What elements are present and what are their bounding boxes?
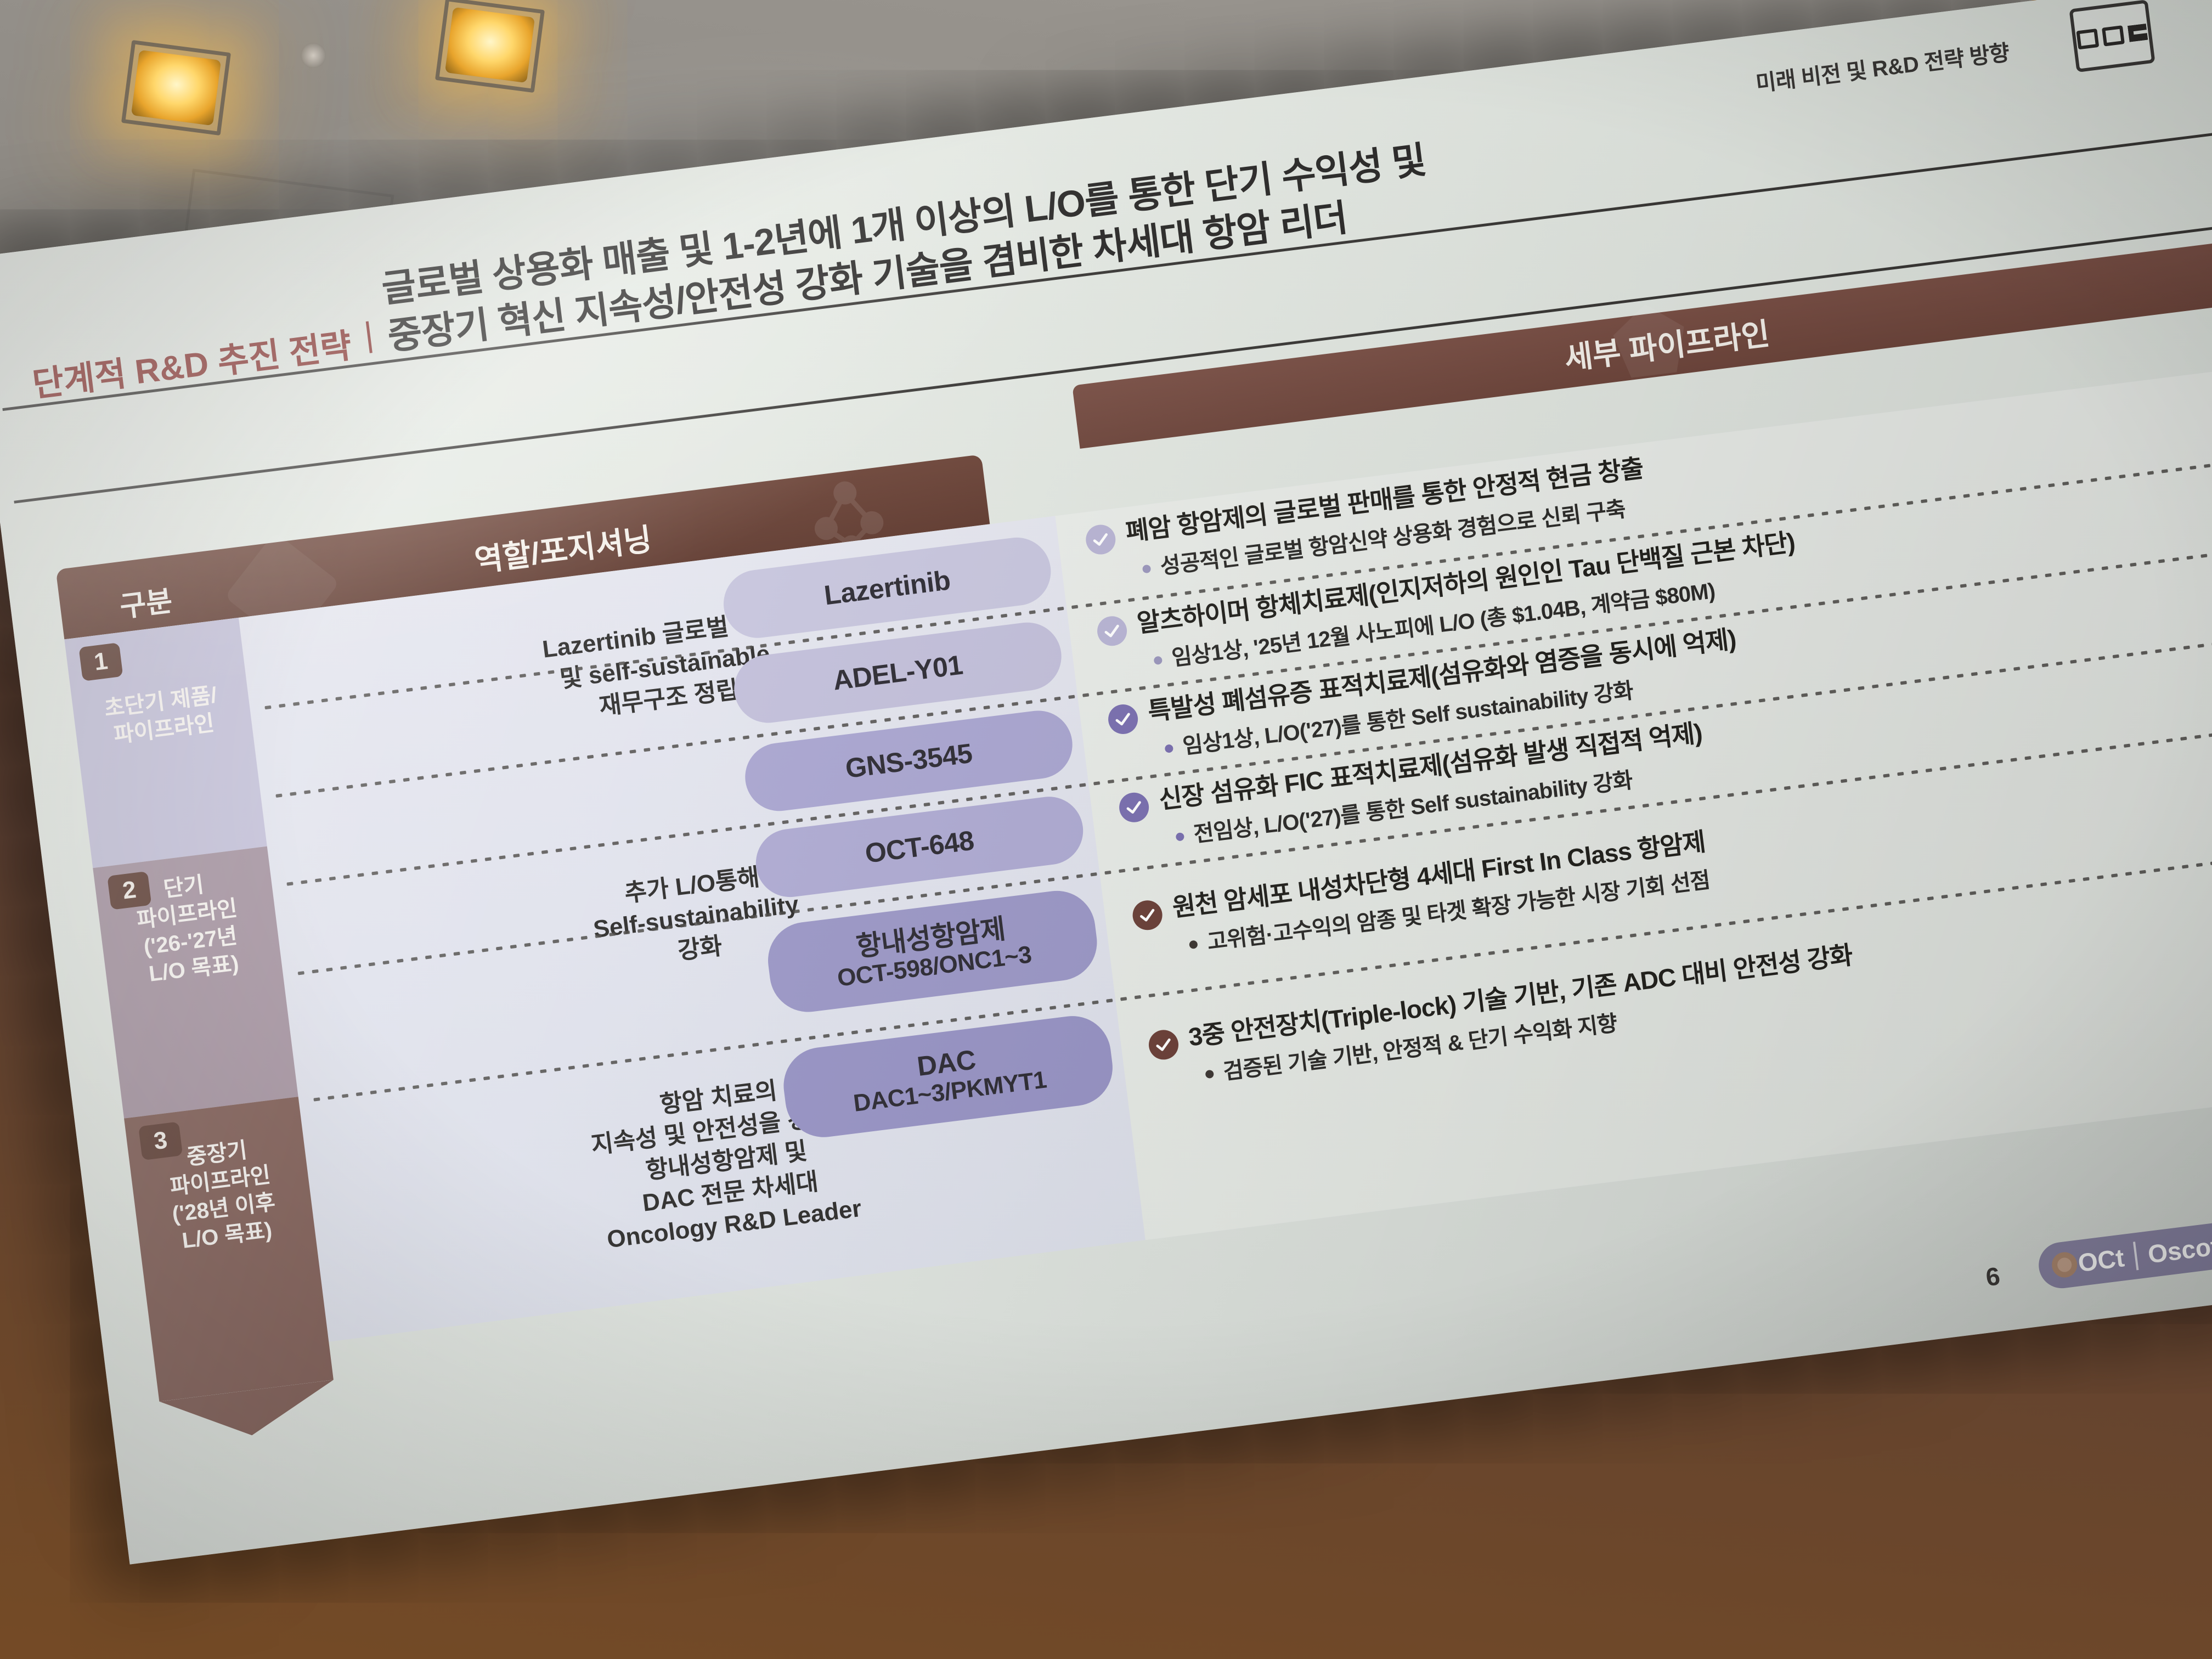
column-header-division: 구분: [117, 578, 174, 625]
bullet-dot-icon: [1176, 832, 1185, 842]
slide-content: 미래 비전 및 R&D 전략 방향 단계적 R&D 추진 전략 | 글로벌 상용…: [0, 0, 2212, 1557]
bullet-dot-icon: [1189, 940, 1198, 949]
check-circle-icon: [1107, 703, 1139, 736]
tier-label: 단기파이프라인 ('26-'27년L/O 목표): [95, 862, 283, 993]
check-circle-icon: [1084, 523, 1117, 556]
title-tag: 단계적 R&D 추진 전략: [24, 271, 354, 407]
ceiling-downlight: [445, 7, 535, 83]
oscotec-mark-icon: OCt: [2051, 1245, 2126, 1279]
tier-row-2[interactable]: 2 단기파이프라인 ('26-'27년L/O 목표): [93, 847, 298, 1119]
bullet-dot-icon: [1142, 565, 1152, 574]
pill-label: OCT-648: [864, 825, 976, 869]
tier-row-1[interactable]: 1 초단기 제품/파이프라인: [64, 618, 267, 868]
bullet-dot-icon: [1205, 1070, 1214, 1079]
pipeline-table: 세부 파이프라인 구분 역할/포지셔닝 1: [16, 238, 2212, 1475]
brand-name: Oscotec Inc.: [2146, 1221, 2212, 1269]
tier-number-badge: 1: [78, 642, 123, 681]
tier-label: 중장기파이프라인 ('28년 이후L/O 목표): [128, 1130, 315, 1260]
check-circle-icon: [1118, 791, 1150, 824]
brand-mark-text: OCt: [2076, 1245, 2125, 1276]
bullet-dot-icon: [1153, 656, 1163, 665]
brand-divider: [2133, 1242, 2138, 1270]
pill-label: GNS-3545: [844, 738, 974, 784]
ceiling-downlight: [131, 50, 221, 126]
title-divider-pipe: |: [356, 268, 375, 355]
bullet-dot-icon: [1164, 744, 1173, 753]
pill-label: Lazertinib: [822, 565, 952, 611]
page-number: 6: [1984, 1261, 2002, 1292]
check-circle-icon: [1147, 1028, 1180, 1061]
pill-label: ADEL-Y01: [831, 650, 964, 696]
tier-row-3[interactable]: 3 중장기파이프라인 ('28년 이후L/O 목표): [124, 1097, 334, 1402]
projection-screen: 미래 비전 및 R&D 전략 방향 단계적 R&D 추진 전략 | 글로벌 상용…: [0, 0, 2212, 1565]
check-circle-icon: [1131, 899, 1164, 932]
tier-label: 초단기 제품/파이프라인: [72, 678, 253, 754]
check-circle-icon: [1096, 614, 1128, 647]
